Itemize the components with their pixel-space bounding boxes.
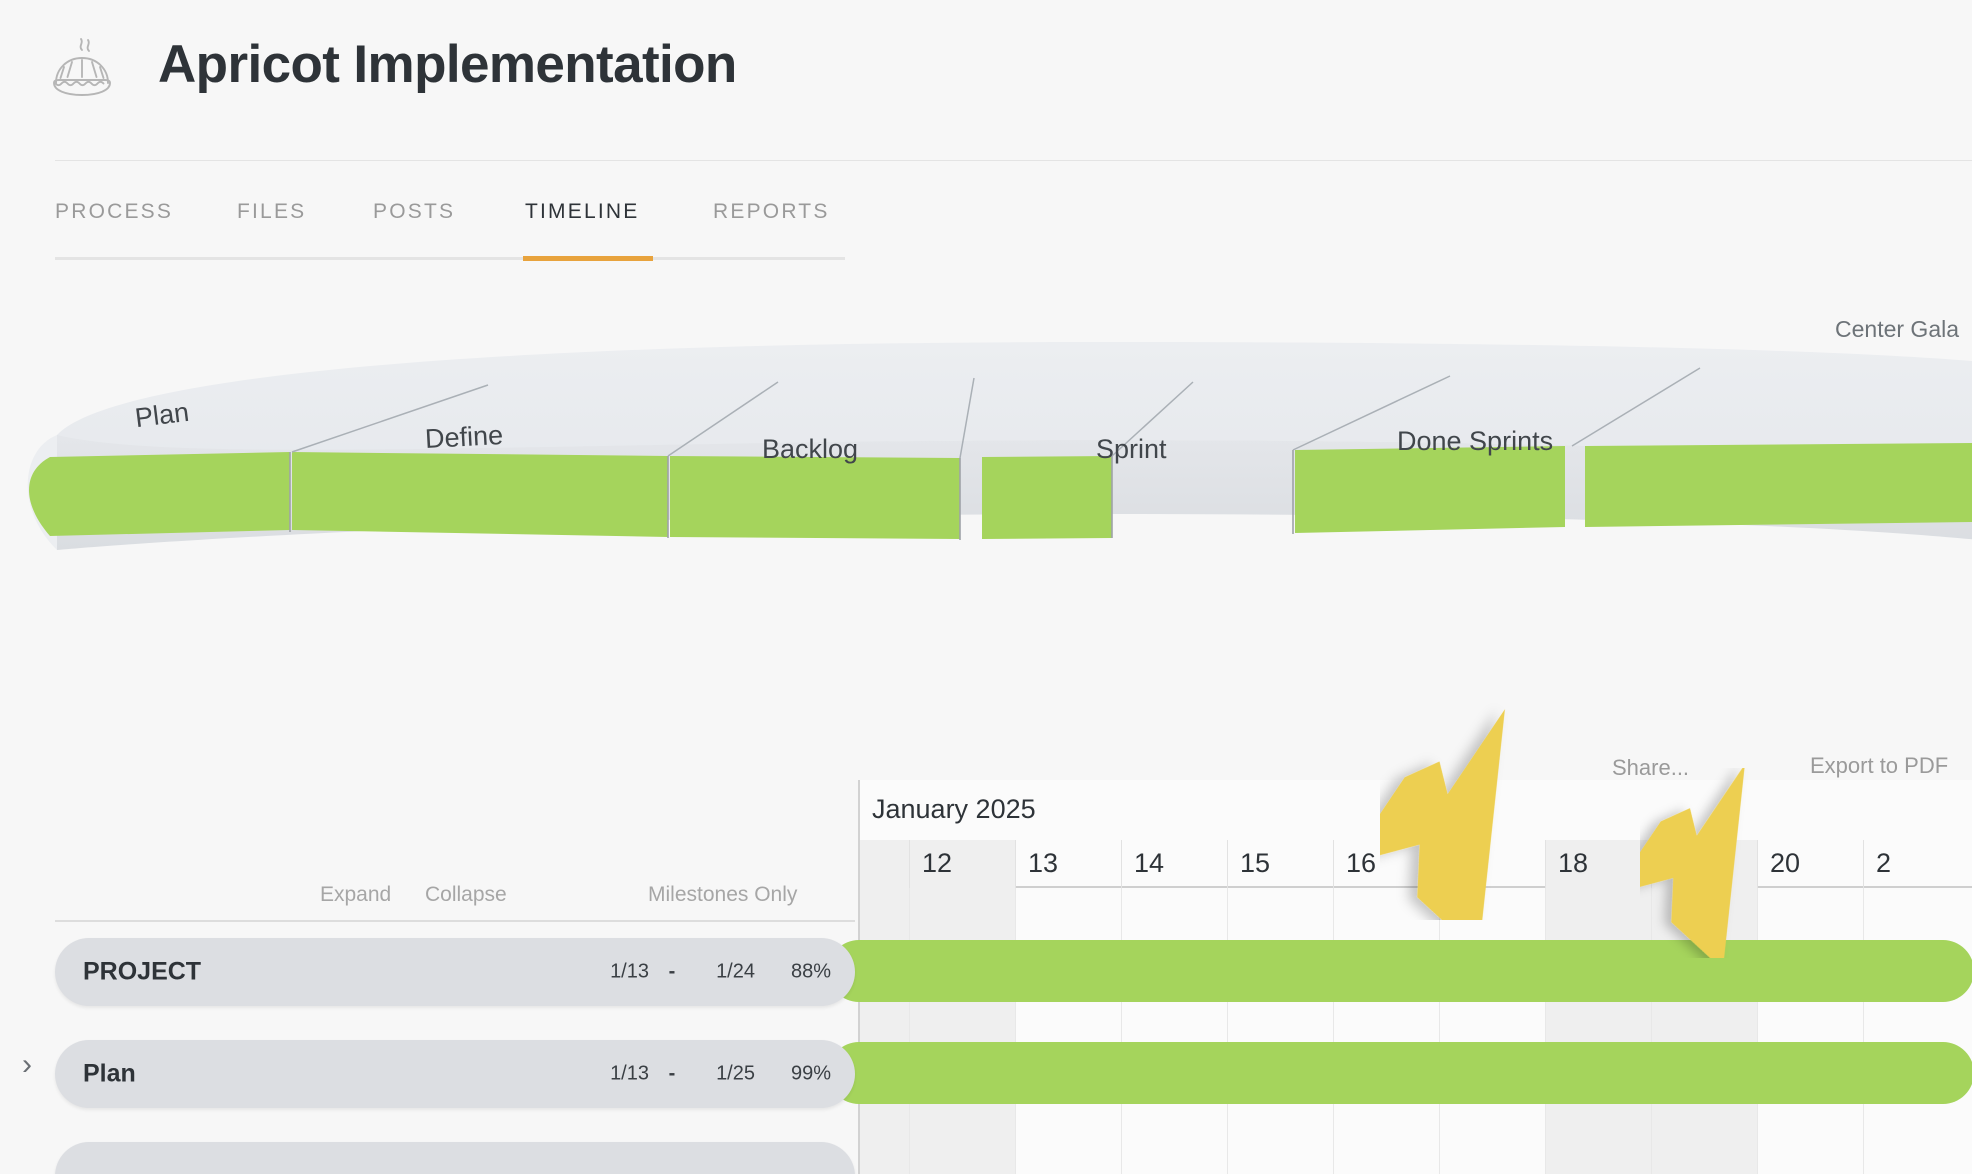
task-date-dash: -	[649, 961, 695, 984]
gantt-bar-plan[interactable]	[828, 1042, 1972, 1104]
gantt-month-label: January 2025	[872, 794, 1036, 825]
pointer-arrow-2	[1640, 768, 1840, 963]
task-percent: 99%	[755, 1063, 831, 1086]
task-start-date: 1/13	[589, 961, 649, 984]
chevron-right-icon[interactable]: ›	[22, 1048, 32, 1082]
task-start-date: 1/13	[589, 1063, 649, 1086]
tab-posts[interactable]: POSTS	[373, 200, 455, 224]
collapse-button[interactable]: Collapse	[425, 883, 507, 907]
tab-process[interactable]: PROCESS	[55, 200, 173, 224]
funnel-label-done-sprints[interactable]: Done Sprints	[1397, 426, 1553, 457]
grid-column	[1546, 888, 1652, 1174]
gantt-left-header: Expand Collapse Milestones Only	[55, 865, 855, 920]
tab-bar: PROCESS FILES POSTS TIMELINE REPORTS	[55, 200, 845, 260]
timeline-page: Apricot Implementation PROCESS FILES POS…	[0, 0, 1972, 1174]
funnel-label-sprint[interactable]: Sprint	[1096, 434, 1167, 465]
grid-column	[910, 888, 1016, 1174]
task-meta: 1/13-1/2488%	[589, 961, 831, 984]
day-cell[interactable]: 15	[1228, 840, 1334, 888]
expand-button[interactable]: Expand	[320, 883, 391, 907]
day-cell[interactable]: 12	[910, 840, 1016, 888]
day-cell[interactable]: 13	[1016, 840, 1122, 888]
task-date-dash: -	[649, 1063, 695, 1086]
table-row[interactable]: Plan 1/13-1/2599%	[55, 1040, 855, 1108]
task-meta: 1/13-1/2599%	[589, 1063, 831, 1086]
milestones-only-button[interactable]: Milestones Only	[648, 883, 797, 907]
funnel-progress-segments	[29, 443, 1972, 539]
gantt-left-header-rule	[55, 920, 855, 922]
day-cell[interactable]: 14	[1122, 840, 1228, 888]
process-funnel[interactable]: Plan Define Backlog Sprint Done Sprints	[0, 300, 1972, 680]
day-cell[interactable]	[860, 840, 910, 888]
task-percent: 88%	[755, 961, 831, 984]
task-name: PROJECT	[83, 958, 201, 987]
page-title: Apricot Implementation	[158, 34, 737, 95]
grid-column	[1334, 888, 1440, 1174]
grid-column	[1440, 888, 1546, 1174]
tab-reports[interactable]: REPORTS	[713, 200, 830, 224]
task-name: Plan	[83, 1060, 136, 1089]
grid-column	[860, 888, 910, 1174]
tab-files[interactable]: FILES	[237, 200, 306, 224]
table-row[interactable]	[55, 1142, 855, 1174]
grid-column	[1122, 888, 1228, 1174]
tab-timeline[interactable]: TIMELINE	[525, 200, 639, 224]
grid-column	[1016, 888, 1122, 1174]
table-row[interactable]: PROJECT 1/13-1/2488%	[55, 938, 855, 1006]
pie-icon	[48, 36, 116, 98]
header-divider	[55, 160, 1972, 161]
task-end-date: 1/24	[695, 961, 755, 984]
pointer-arrow-1	[1380, 700, 1610, 925]
funnel-label-define[interactable]: Define	[424, 420, 504, 455]
tab-bar-rule	[55, 257, 845, 260]
page-header: Apricot Implementation	[0, 0, 1972, 160]
funnel-label-backlog[interactable]: Backlog	[762, 434, 858, 465]
grid-column	[1864, 888, 1972, 1174]
task-end-date: 1/25	[695, 1063, 755, 1086]
tab-active-underline	[523, 256, 653, 261]
grid-column	[1228, 888, 1334, 1174]
funnel-label-plan[interactable]: Plan	[133, 397, 190, 434]
day-cell[interactable]: 2	[1864, 840, 1972, 888]
